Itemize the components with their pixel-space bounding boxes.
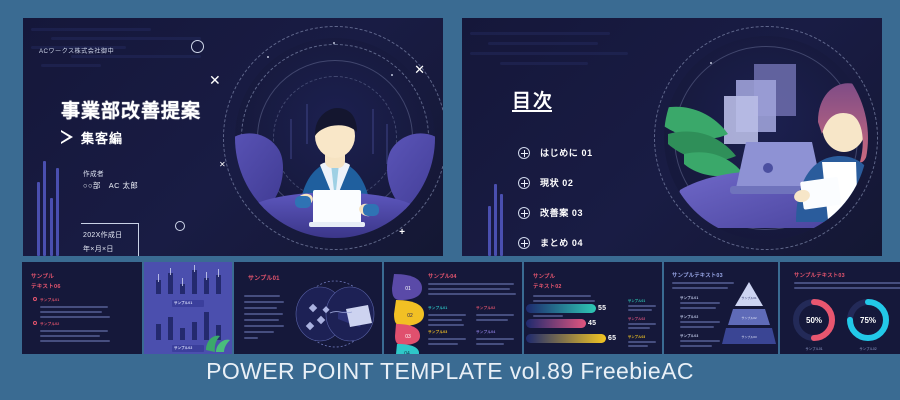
toc-item-2[interactable]: 現状 02 bbox=[518, 176, 593, 189]
thumb5-value-1: 55 bbox=[598, 305, 606, 312]
thumb1-title-line2: テキスト06 bbox=[31, 282, 61, 290]
thumb4-title: サンプル04 bbox=[428, 272, 457, 280]
slide-title[interactable]: ACワークス株式会社御中 ✕ ✕ 事業部改善提案 集客編 作成者 ○○部 AC … bbox=[23, 18, 443, 256]
thumbnail-strip: サンプル テキスト06 サンプル01 サンプル02 bbox=[22, 262, 882, 354]
thumb6-sub-1: サンプル01 bbox=[680, 295, 698, 300]
bullet-dot-icon bbox=[33, 321, 37, 325]
bullet-dot-icon bbox=[33, 297, 37, 301]
thumb4-sub-1: サンプル01 bbox=[428, 306, 447, 311]
plus-circle-icon bbox=[518, 237, 530, 249]
circle-outline-icon bbox=[175, 221, 185, 231]
thumb5-bars-svg bbox=[526, 302, 626, 350]
thumb3-title: サンプル01 bbox=[248, 273, 280, 282]
thumb5-legend-1: サンプル01 bbox=[628, 298, 645, 303]
thumb2-label-bottom: サンプル02 bbox=[174, 345, 192, 350]
plus-mark-icon: + bbox=[399, 227, 405, 238]
thumbnail-1[interactable]: サンプル テキスト06 サンプル01 サンプル02 bbox=[22, 262, 142, 354]
thumb6-pyramid-svg: サンプル01 サンプル02 サンプル03 bbox=[722, 282, 776, 344]
thumbnail-3[interactable]: サンプル01 bbox=[234, 262, 382, 354]
thumb7-title: サンプルテキスト03 bbox=[794, 271, 845, 279]
svg-text:サンプル01: サンプル01 bbox=[741, 295, 757, 300]
page-caption: POWER POINT TEMPLATE vol.89 FreebieAC bbox=[0, 358, 900, 385]
svg-text:50%: 50% bbox=[806, 316, 822, 325]
date-line-2: 年×月×日 bbox=[83, 244, 114, 254]
plus-circle-icon bbox=[518, 147, 530, 159]
svg-text:04: 04 bbox=[404, 351, 410, 354]
client-name: ACワークス株式会社御中 bbox=[39, 46, 114, 55]
thumbnail-4[interactable]: サンプル04 01 02 03 04 サンプル01 サンプル02 サンプル03 bbox=[384, 262, 522, 354]
svg-text:02: 02 bbox=[407, 313, 413, 319]
play-triangle-icon bbox=[61, 130, 74, 145]
thumb1-bullet-1: サンプル01 bbox=[40, 298, 59, 303]
thumbnail-5-horizontal-bar-chart[interactable]: サンプル テキスト02 55 45 65 サンプル01 bbox=[524, 262, 662, 354]
plus-circle-icon bbox=[518, 177, 530, 189]
cross-mark-icon: ✕ bbox=[209, 72, 221, 89]
thumbnail-6-pyramid[interactable]: サンプルテキスト03 サンプル01 サンプル02 サンプル03 サンプル01 サ… bbox=[664, 262, 778, 354]
toc-heading: 目次 bbox=[512, 86, 554, 113]
svg-text:サンプル02: サンプル02 bbox=[741, 315, 757, 320]
slide-table-of-contents[interactable]: 目次 はじめに 01 現状 02 改善案 03 まとめ 04 bbox=[462, 18, 882, 256]
thumb6-sub-3: サンプル03 bbox=[680, 333, 698, 338]
svg-text:サンプル01: サンプル01 bbox=[805, 346, 822, 351]
thumb5-title-line1: サンプル bbox=[533, 272, 555, 280]
toc-item-4[interactable]: まとめ 04 bbox=[518, 236, 593, 249]
toc-item-1[interactable]: はじめに 01 bbox=[518, 146, 593, 159]
svg-text:75%: 75% bbox=[860, 316, 876, 325]
thumb6-title: サンプルテキスト03 bbox=[672, 271, 723, 279]
page-title: 事業部改善提案 bbox=[61, 96, 201, 123]
thumb4-badges: 01 02 03 04 bbox=[388, 268, 430, 354]
thumb5-legend-2: サンプル02 bbox=[628, 316, 645, 321]
svg-text:03: 03 bbox=[405, 334, 411, 340]
thumb2-bar-chart-svg bbox=[144, 262, 232, 354]
svg-text:サンプル03: サンプル03 bbox=[741, 334, 757, 339]
thumb5-title-line2: テキスト02 bbox=[533, 282, 562, 290]
page-subtitle: 集客編 bbox=[81, 128, 123, 147]
thumb1-bullet-2: サンプル02 bbox=[40, 322, 59, 327]
toc-item-label: 現状 02 bbox=[540, 176, 574, 189]
circle-outline-icon bbox=[191, 40, 204, 53]
subtitle-row: 集客編 bbox=[61, 128, 123, 147]
thumb2-label-top: サンプル01 bbox=[174, 300, 192, 305]
person-laptop-graphic bbox=[221, 24, 443, 252]
toc-illustration bbox=[650, 22, 882, 254]
toc-list: はじめに 01 現状 02 改善案 03 まとめ 04 bbox=[518, 146, 593, 256]
author-label: 作成者 bbox=[83, 168, 104, 178]
thumb4-sub-3: サンプル03 bbox=[428, 330, 447, 335]
date-line-1: 202X作成日 bbox=[83, 230, 122, 240]
thumb7-left-edge bbox=[780, 262, 789, 354]
author-value: ○○部 AC 太郎 bbox=[83, 180, 138, 191]
title-illustration bbox=[221, 24, 443, 252]
toc-item-label: はじめに 01 bbox=[540, 146, 593, 159]
cross-mark-icon: ✕ bbox=[414, 62, 425, 78]
toc-item-label: まとめ 04 bbox=[540, 236, 583, 249]
toc-item-label: 改善案 03 bbox=[540, 206, 583, 219]
thumb4-sub-4: サンプル04 bbox=[476, 330, 495, 335]
thumb3-network-illustration bbox=[290, 279, 380, 349]
thumb5-legend-3: サンプル03 bbox=[628, 334, 645, 339]
woman-desk-graphic bbox=[650, 22, 882, 254]
thumb5-value-2: 45 bbox=[588, 320, 596, 327]
decorative-vertical-bars bbox=[37, 161, 63, 256]
decorative-vertical-bars bbox=[488, 178, 514, 256]
toc-heading-underline bbox=[512, 110, 552, 112]
thumbnail-7-donut-charts[interactable]: サンプルテキスト03 50% サンプル01 75% サンプル02 bbox=[780, 262, 900, 354]
thumb6-sub-2: サンプル02 bbox=[680, 314, 698, 319]
screenshot-root: ACワークス株式会社御中 ✕ ✕ 事業部改善提案 集客編 作成者 ○○部 AC … bbox=[0, 0, 900, 400]
thumbnail-2-bar-charts[interactable]: サンプル01 サンプル02 bbox=[144, 262, 232, 354]
thumb1-title-line1: サンプル bbox=[31, 272, 54, 280]
svg-text:01: 01 bbox=[405, 286, 411, 292]
thumb4-sub-2: サンプル02 bbox=[476, 306, 495, 311]
toc-item-3[interactable]: 改善案 03 bbox=[518, 206, 593, 219]
svg-text:サンプル02: サンプル02 bbox=[859, 346, 876, 351]
plus-circle-icon bbox=[518, 207, 530, 219]
thumb7-donuts-svg: 50% サンプル01 75% サンプル02 25 % サンプル03 bbox=[780, 294, 900, 354]
thumb5-value-3: 65 bbox=[608, 335, 616, 342]
